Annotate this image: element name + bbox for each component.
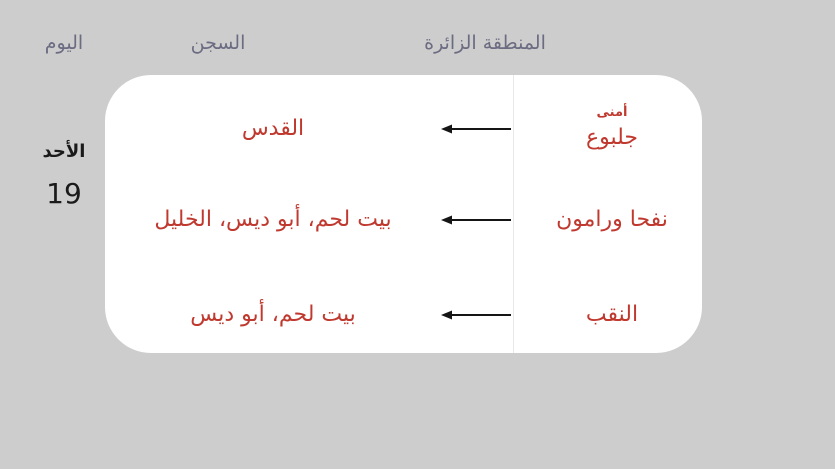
day-name: الأحد [9, 140, 119, 164]
arrow-left-icon [441, 210, 513, 230]
visiting-area: بيت لحم، أبو ديس [105, 300, 441, 330]
table-row: النقب بيت لحم، أبو ديس [105, 283, 702, 347]
schedule-card: أمنى جلبوع القدس نفحا ورامون [105, 75, 702, 353]
arrow-left-icon [441, 119, 513, 139]
arrow-left-icon [441, 305, 513, 325]
day-number: 19 [9, 178, 119, 210]
prison-name: النقب [522, 300, 702, 330]
prison-cell: أمنى جلبوع [514, 105, 702, 153]
visiting-area: بيت لحم، أبو ديس، الخليل [105, 205, 441, 235]
day-cell: الأحد 19 [9, 140, 119, 210]
column-headers: اليوم السجن المنطقة الزائرة [0, 0, 835, 68]
schedule-rows: أمنى جلبوع القدس نفحا ورامون [105, 75, 702, 353]
visitation-schedule-page: اليوم السجن المنطقة الزائرة الأحد 19 أمن… [0, 0, 835, 469]
column-header-visiting-area: المنطقة الزائرة [335, 30, 635, 56]
prison-name: جلبوع [522, 123, 702, 153]
table-row: نفحا ورامون بيت لحم، أبو ديس، الخليل [105, 188, 702, 252]
visiting-area: القدس [105, 114, 441, 144]
prison-security-tag: أمنى [522, 105, 702, 121]
prison-name: نفحا ورامون [522, 205, 702, 235]
column-header-prison: السجن [143, 30, 293, 56]
column-header-day: اليوم [9, 30, 119, 56]
prison-cell: النقب [514, 300, 702, 330]
prison-cell: نفحا ورامون [514, 205, 702, 235]
table-row: أمنى جلبوع القدس [105, 97, 702, 161]
